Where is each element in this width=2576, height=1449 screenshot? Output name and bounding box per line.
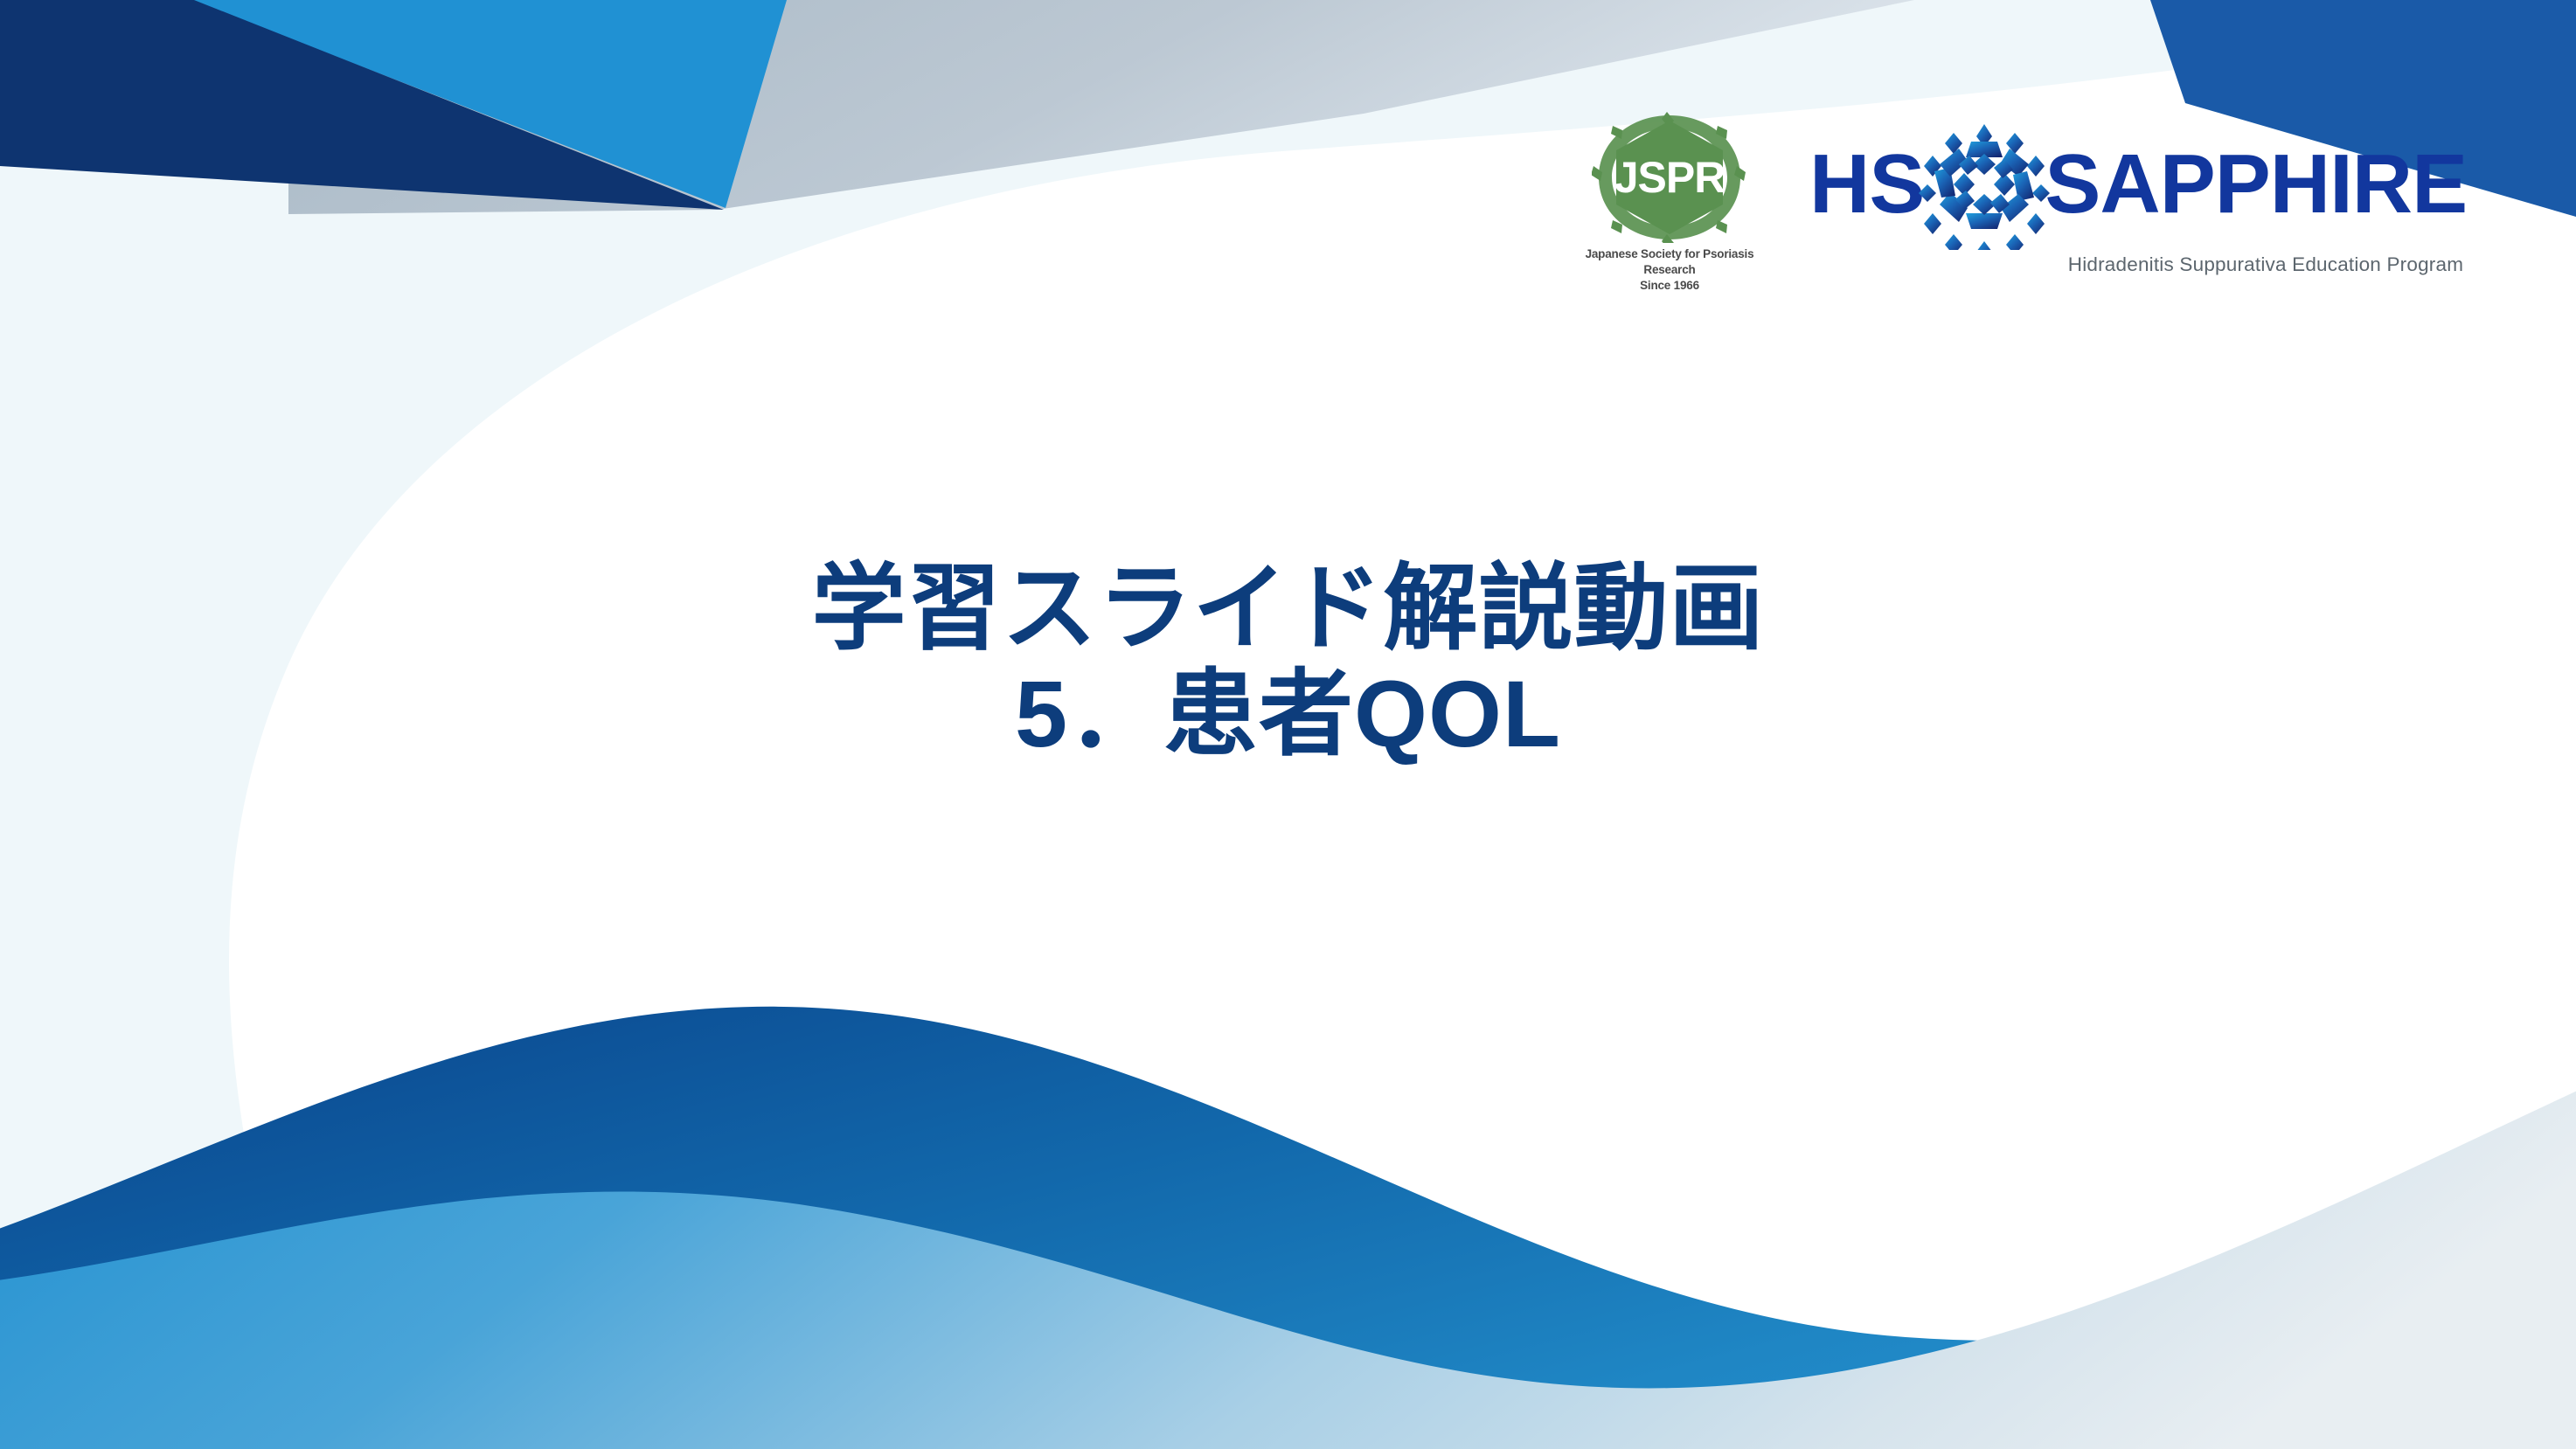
jspr-caption: Japanese Society for Psoriasis Research … xyxy=(1565,246,1774,295)
sapphire-logo: HS xyxy=(1809,103,2467,275)
jspr-emblem-icon: JSPR xyxy=(1592,112,1747,243)
jspr-caption-line1: Japanese Society for Psoriasis Research xyxy=(1565,246,1774,278)
slide-title-line-2: 5．患者QOL xyxy=(0,662,2576,767)
sapphire-hs-text: HS xyxy=(1809,142,1924,226)
sapphire-name-text: SAPPHIRE xyxy=(2045,142,2467,226)
slide-title-line-1: 学習スライド解説動画 xyxy=(0,556,2576,662)
sapphire-wordmark: HS xyxy=(1809,119,2467,250)
svg-text:JSPR: JSPR xyxy=(1614,153,1726,202)
title-block: 学習スライド解説動画 5．患者QOL xyxy=(0,556,2576,767)
jspr-logo: JSPR Japanese Society for Psoriasis Rese… xyxy=(1565,103,1774,295)
sapphire-gem-icon xyxy=(1919,119,2050,250)
jspr-caption-line2: Since 1966 xyxy=(1565,278,1774,294)
logo-bar: JSPR Japanese Society for Psoriasis Rese… xyxy=(1565,103,2467,295)
slide-root: JSPR Japanese Society for Psoriasis Rese… xyxy=(0,0,2576,1449)
sapphire-tagline: Hidradenitis Suppurativa Education Progr… xyxy=(2068,255,2463,275)
